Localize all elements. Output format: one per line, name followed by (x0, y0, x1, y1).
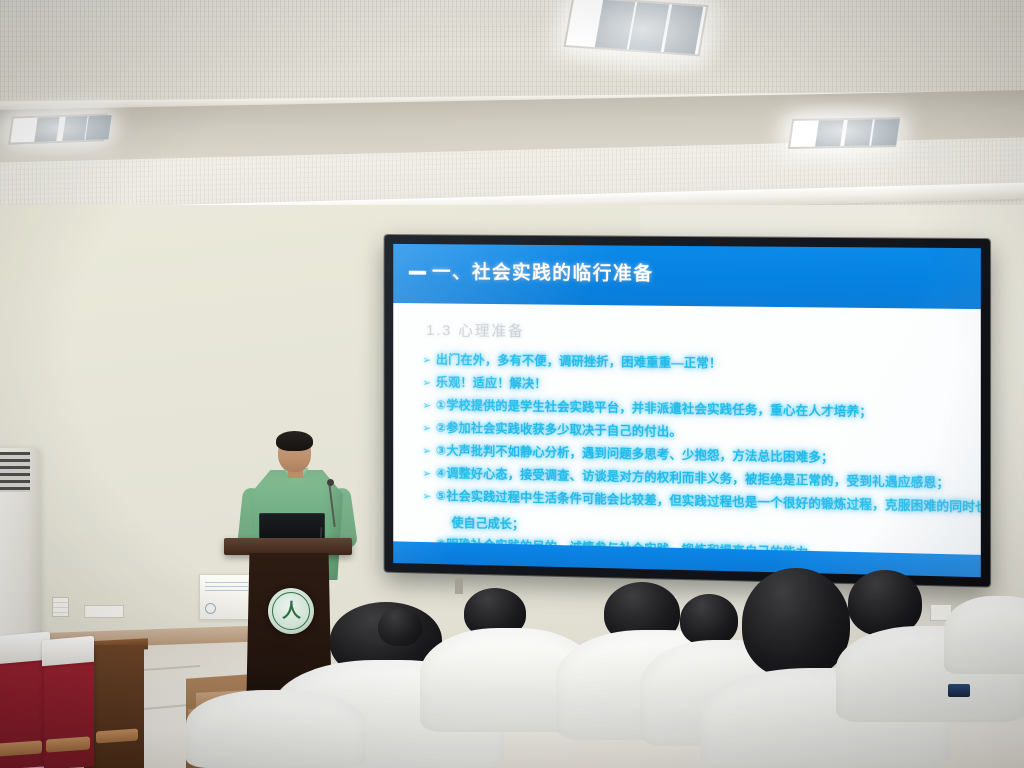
presentation-slide: 一、社会实践的临行准备 1.3 心理准备 ➢ 出门在外，多有不便，调研挫折，困难… (393, 244, 981, 577)
bullet-text: ②参加社会实践收获多少取决于自己的付出。 (436, 422, 682, 440)
bullet-arrow-icon: ➢ (422, 354, 436, 369)
seat-headrest-cover (42, 636, 94, 667)
wall-outlet[interactable] (84, 605, 124, 618)
speaker-hair (276, 431, 313, 451)
slide-title: 一、社会实践的临行准备 (432, 257, 654, 286)
microphone-icon[interactable] (327, 479, 334, 486)
bullet-arrow-icon: ➢ (422, 422, 436, 437)
slide-bullet: ➢ ⑤社会实践过程中生活条件可能会比较差，但实践过程也是一个很好的锻炼过程，克服… (422, 490, 958, 516)
ceiling-upper-panel (0, 0, 1024, 102)
slide-bullet: ➢ 乐观！适应！解决！ (422, 376, 958, 399)
title-dash-icon (409, 271, 426, 275)
slide-bullet: ➢ ④调整好心态，接受调查、访谈是对方的权利而非义务，被拒绝是正常的，受到礼遇应… (422, 467, 958, 492)
audience-phone-icon[interactable] (948, 684, 970, 697)
air-conditioner-grille-icon (0, 452, 30, 492)
bullet-arrow-icon: ➢ (422, 376, 436, 391)
bullet-arrow-icon: ➢ (422, 490, 436, 505)
bullet-text: 出门在外，多有不便，调研挫折，困难重重—正常！ (436, 354, 722, 372)
bullet-text: ⑤社会实践过程中生活条件可能会比较差，但实践过程也是一个很好的锻炼过程，克服困难… (436, 490, 981, 516)
ceiling-light-icon (563, 0, 708, 56)
slide-bullet: ➢ ②参加社会实践收获多少取决于自己的付出。 (422, 422, 958, 446)
notice-logo-icon (205, 603, 216, 614)
bullet-text: ④调整好心态，接受调查、访谈是对方的权利而非义务，被拒绝是正常的，受到礼遇应感恩… (436, 467, 949, 491)
crest-glyph: 人 (282, 602, 300, 621)
audience-head (742, 568, 850, 678)
bullet-arrow-icon: ➢ (422, 444, 436, 459)
bullet-text: ③大声批判不如静心分析，遇到问题多思考、少抱怨，方法总比困难多； (436, 445, 834, 466)
bullet-text: 乐观！适应！解决！ (436, 376, 547, 391)
audience-person (944, 596, 1024, 674)
bullet-arrow-icon: ➢ (422, 399, 436, 414)
university-crest-icon: 人 (268, 588, 314, 634)
notice-text-lines (205, 582, 248, 592)
podium-desktop (224, 538, 352, 555)
light-switch[interactable] (52, 597, 69, 617)
lecture-hall-photo: 一、社会实践的临行准备 1.3 心理准备 ➢ 出门在外，多有不便，调研挫折，困难… (0, 0, 1024, 768)
screen-wall-mount (455, 578, 463, 594)
slide-bullet: ➢ 出门在外，多有不便，调研挫折，困难重重—正常！ (422, 354, 958, 376)
slide-content: 1.3 心理准备 ➢ 出门在外，多有不便，调研挫折，困难重重—正常！ ➢ 乐观！… (393, 303, 981, 555)
bullet-continuation-text: 使自己成长； (451, 513, 958, 542)
wall-notice-board (199, 574, 255, 620)
ceiling-light-icon (788, 117, 900, 149)
slide-bullet: ➢ ①学校提供的是学生社会实践平台，并非派遣社会实践任务，重心在人才培养； (422, 399, 958, 423)
ceiling-light-icon (8, 113, 108, 144)
audience-person (186, 690, 366, 768)
slide-subtitle: 1.3 心理准备 (426, 319, 958, 346)
bullet-arrow-icon: ➢ (422, 467, 436, 482)
bullet-text: ①学校提供的是学生社会实践平台，并非派遣社会实践任务，重心在人才培养； (436, 399, 872, 420)
slide-title-bar: 一、社会实践的临行准备 (393, 244, 981, 309)
slide-bullet: ➢ ③大声批判不如静心分析，遇到问题多思考、少抱怨，方法总比困难多； (422, 444, 958, 469)
audience-head (378, 608, 422, 646)
projection-display[interactable]: 一、社会实践的临行准备 1.3 心理准备 ➢ 出门在外，多有不便，调研挫折，困难… (385, 235, 991, 587)
audience-head (680, 594, 738, 646)
